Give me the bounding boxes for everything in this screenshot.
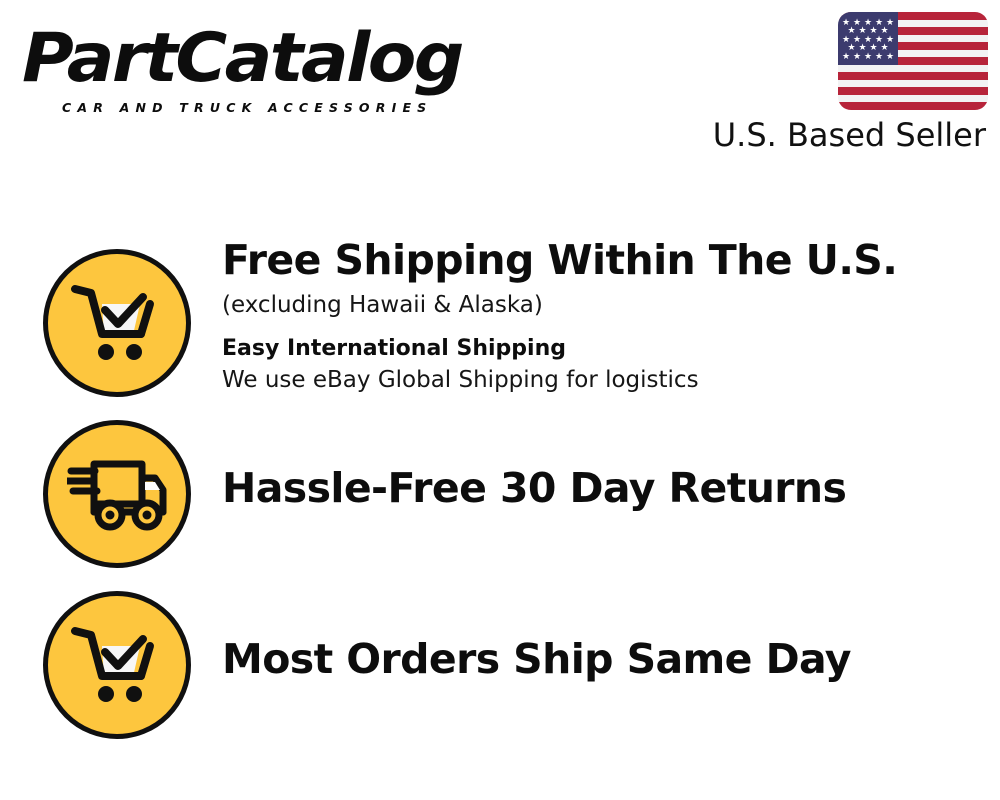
shopping-cart-check-icon xyxy=(43,591,191,739)
feature-detail: We use eBay Global Shipping for logistic… xyxy=(222,365,982,395)
shopping-cart-check-icon xyxy=(43,249,191,397)
flag-star-row: ★★★★★ xyxy=(841,52,896,60)
feature-subtitle: Easy International Shipping xyxy=(222,334,982,364)
feature-text: Free Shipping Within The U.S. (excluding… xyxy=(222,237,982,395)
delivery-truck-icon xyxy=(43,420,191,568)
promo-banner: PartCatalog CAR AND TRUCK ACCESSORIES ★★… xyxy=(0,0,1000,800)
feature-title: Most Orders Ship Same Day xyxy=(222,636,982,683)
feature-text: Hassle-Free 30 Day Returns xyxy=(222,465,982,512)
us-based-seller-label: U.S. Based Seller xyxy=(713,116,986,154)
feature-row-same-day-ship: Most Orders Ship Same Day xyxy=(0,591,1000,741)
feature-title: Free Shipping Within The U.S. xyxy=(222,237,982,284)
feature-note: (excluding Hawaii & Alaska) xyxy=(222,290,982,320)
brand-logo: PartCatalog CAR AND TRUCK ACCESSORIES xyxy=(22,22,492,114)
feature-row-free-shipping: Free Shipping Within The U.S. (excluding… xyxy=(0,249,1000,409)
us-flag-icon: ★★★★★ ★★★★ ★★★★★ ★★★★ ★★★★★ xyxy=(838,12,988,110)
feature-title: Hassle-Free 30 Day Returns xyxy=(222,465,982,512)
flag-canton: ★★★★★ ★★★★ ★★★★★ ★★★★ ★★★★★ xyxy=(838,12,898,65)
feature-row-returns: Hassle-Free 30 Day Returns xyxy=(0,420,1000,570)
logo-wordmark: PartCatalog xyxy=(22,22,511,96)
logo-tagline: CAR AND TRUCK ACCESSORIES xyxy=(62,100,432,115)
feature-text: Most Orders Ship Same Day xyxy=(222,636,982,683)
